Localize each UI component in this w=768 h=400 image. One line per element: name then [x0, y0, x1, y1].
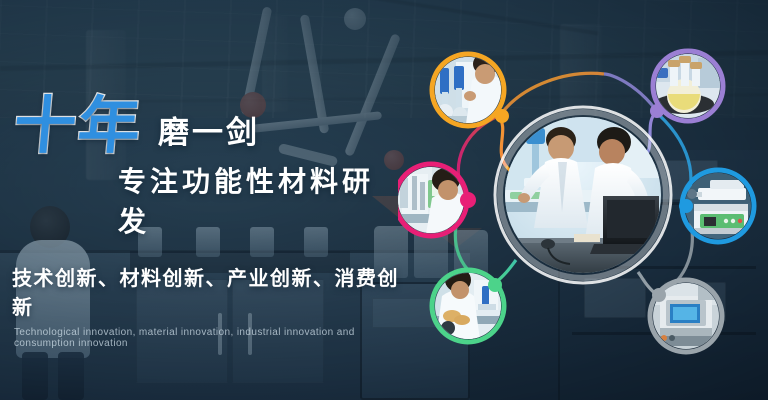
headline-line-one: 十年 磨一剑 [0, 96, 400, 156]
hero-banner: 十年 磨一剑 专注功能性材料研发 技术创新、材料创新、产业创新、消费创新 Tec… [0, 0, 768, 400]
tagline-chinese: 技术创新、材料创新、产业创新、消费创新 [0, 262, 400, 320]
node-dot-top-right [650, 104, 664, 118]
headline-block: 十年 磨一剑 专注功能性材料研发 技术创新、材料创新、产业创新、消费创新 Tec… [0, 96, 400, 349]
tagline-english: Technological innovation, material innov… [0, 327, 400, 349]
photo-circle-diagram [398, 28, 768, 378]
node-dot-bottom-right [652, 288, 666, 302]
node-dot-top-left [495, 109, 509, 123]
headline-sub: 专注功能性材料研发 [0, 160, 400, 240]
node-dot-left [460, 192, 476, 208]
node-dot-right [679, 199, 693, 213]
node-dot-bottom-left [488, 278, 502, 292]
kanji-decade: 十年 [11, 97, 144, 156]
headline-main: 磨一剑 [158, 107, 260, 152]
